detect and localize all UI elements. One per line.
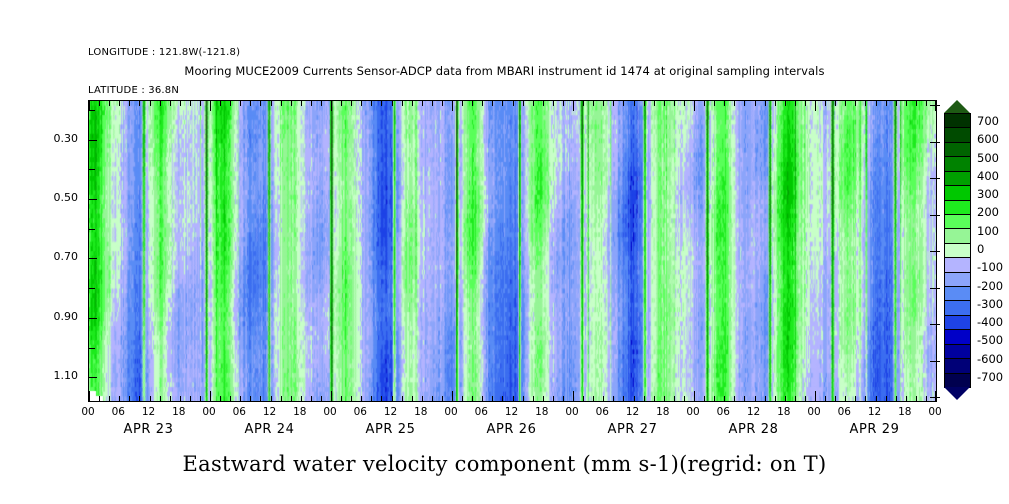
axis-tick xyxy=(351,101,352,106)
axis-tick xyxy=(250,396,251,401)
axis-tick xyxy=(170,396,171,401)
axis-tick xyxy=(452,101,453,111)
axis-tick xyxy=(855,101,856,106)
axis-tick xyxy=(593,396,594,401)
hour-tick-label: 00 xyxy=(560,406,584,418)
axis-tick xyxy=(412,396,413,401)
axis-tick xyxy=(129,396,130,401)
axis-tick xyxy=(119,396,120,401)
hour-tick-label: 06 xyxy=(106,406,130,418)
hour-tick-label: 18 xyxy=(651,406,675,418)
axis-tick xyxy=(845,101,846,106)
axis-tick xyxy=(513,101,514,106)
axis-tick xyxy=(734,396,735,401)
axis-tick xyxy=(210,101,211,111)
hour-tick-label: 12 xyxy=(379,406,403,418)
axis-tick xyxy=(654,101,655,106)
axis-tick xyxy=(422,396,423,401)
longitude-line: LONGITUDE : 121.8W(-121.8) xyxy=(88,47,240,60)
axis-tick xyxy=(704,101,705,106)
colorbar-band xyxy=(944,127,971,142)
axis-tick xyxy=(210,391,211,401)
axis-tick xyxy=(150,396,151,401)
colorbar-band xyxy=(944,171,971,186)
axis-tick xyxy=(381,396,382,401)
y-tick-label: 1.10 xyxy=(32,369,78,382)
colorbar-tick xyxy=(930,288,940,289)
axis-tick xyxy=(855,396,856,401)
y-major-tick xyxy=(89,377,97,378)
axis-tick xyxy=(139,396,140,401)
colorbar-tick-label: 500 xyxy=(977,151,999,165)
hour-tick-label: 12 xyxy=(137,406,161,418)
axis-tick xyxy=(785,101,786,106)
axis-tick xyxy=(190,101,191,106)
axis-tick xyxy=(240,101,241,106)
colorbar-tick xyxy=(930,142,940,143)
axis-tick xyxy=(492,396,493,401)
axis-tick xyxy=(371,396,372,401)
y-minor-tick xyxy=(89,348,95,349)
axis-tick xyxy=(543,396,544,401)
axis-tick xyxy=(341,101,342,106)
axis-tick xyxy=(613,101,614,106)
y-minor-tick xyxy=(89,229,95,230)
axis-tick xyxy=(482,396,483,401)
axis-tick xyxy=(704,396,705,401)
axis-tick xyxy=(724,396,725,401)
colorbar-tick-label: 300 xyxy=(977,187,999,201)
axis-tick xyxy=(835,101,836,106)
axis-tick xyxy=(281,396,282,401)
y-major-tick xyxy=(89,140,97,141)
axis-tick xyxy=(89,391,90,401)
axis-tick xyxy=(563,101,564,106)
colorbar-tick-label: 400 xyxy=(977,169,999,183)
y-tick-label: 0.50 xyxy=(32,191,78,204)
axis-tick xyxy=(744,396,745,401)
colorbar-band xyxy=(944,300,971,315)
axis-tick xyxy=(906,101,907,106)
day-label: APR 28 xyxy=(694,422,814,437)
colorbar-tick-label: -200 xyxy=(977,279,1003,293)
hour-tick-label: 12 xyxy=(742,406,766,418)
axis-tick xyxy=(634,101,635,106)
colorbar-band xyxy=(944,243,971,258)
axis-tick xyxy=(361,396,362,401)
axis-tick xyxy=(301,396,302,401)
axis-tick xyxy=(644,396,645,401)
hour-tick-label: 06 xyxy=(832,406,856,418)
hour-tick-label: 18 xyxy=(893,406,917,418)
axis-tick xyxy=(381,101,382,106)
axis-tick xyxy=(311,396,312,401)
axis-tick xyxy=(442,396,443,401)
axis-tick xyxy=(109,101,110,106)
colorbar-tick xyxy=(930,215,940,216)
axis-tick xyxy=(271,101,272,106)
axis-tick xyxy=(402,396,403,401)
hour-tick-label: 00 xyxy=(439,406,463,418)
velocity-heatmap-canvas xyxy=(89,101,936,401)
axis-tick xyxy=(180,396,181,401)
day-label: APR 29 xyxy=(815,422,935,437)
hour-tick-label: 00 xyxy=(923,406,947,418)
axis-tick xyxy=(321,101,322,106)
axis-tick xyxy=(432,101,433,106)
axis-tick xyxy=(240,396,241,401)
axis-tick xyxy=(513,396,514,401)
axis-tick xyxy=(694,101,695,111)
hour-tick-label: 00 xyxy=(802,406,826,418)
axis-tick xyxy=(402,101,403,106)
axis-tick xyxy=(492,101,493,106)
axis-tick xyxy=(119,101,120,106)
axis-tick xyxy=(674,396,675,401)
colorbar-tick-label: 700 xyxy=(977,114,999,128)
axis-tick xyxy=(926,396,927,401)
axis-tick xyxy=(301,101,302,106)
axis-tick xyxy=(734,101,735,106)
axis-tick xyxy=(573,101,574,111)
colorbar-band xyxy=(944,373,971,388)
y-minor-tick xyxy=(89,169,95,170)
axis-tick xyxy=(220,101,221,106)
hour-tick-label: 18 xyxy=(772,406,796,418)
axis-tick xyxy=(603,396,604,401)
axis-tick xyxy=(644,101,645,106)
axis-tick xyxy=(755,396,756,401)
axis-tick xyxy=(563,396,564,401)
y-major-tick xyxy=(89,318,97,319)
day-label: APR 26 xyxy=(452,422,572,437)
colorbar-band xyxy=(944,214,971,229)
colorbar-band xyxy=(944,286,971,301)
axis-tick xyxy=(815,391,816,401)
axis-tick xyxy=(271,396,272,401)
axis-tick xyxy=(634,396,635,401)
colorbar-tick-label: -500 xyxy=(977,333,1003,347)
colorbar-tick xyxy=(930,178,940,179)
axis-tick xyxy=(220,396,221,401)
day-label: APR 23 xyxy=(89,422,209,437)
hour-tick-label: 00 xyxy=(318,406,342,418)
colorbar-band xyxy=(944,228,971,243)
y-tick-label: 0.30 xyxy=(32,132,78,145)
hour-tick-label: 00 xyxy=(76,406,100,418)
axis-tick xyxy=(99,101,100,106)
colorbar-high-arrow xyxy=(944,100,970,113)
colorbar-band xyxy=(944,113,971,128)
axis-tick xyxy=(845,396,846,401)
axis-tick xyxy=(442,101,443,106)
axis-tick xyxy=(935,391,936,401)
axis-tick xyxy=(331,101,332,111)
axis-tick xyxy=(533,101,534,106)
axis-tick xyxy=(150,101,151,106)
axis-tick xyxy=(744,101,745,106)
axis-tick xyxy=(160,101,161,106)
hour-tick-label: 06 xyxy=(348,406,372,418)
axis-tick xyxy=(603,101,604,106)
axis-tick xyxy=(351,396,352,401)
axis-tick xyxy=(795,396,796,401)
axis-tick xyxy=(230,101,231,106)
axis-tick xyxy=(765,101,766,106)
colorbar-tick xyxy=(930,361,940,362)
axis-tick xyxy=(99,396,100,401)
axis-tick xyxy=(613,396,614,401)
axis-tick xyxy=(200,396,201,401)
hour-tick-label: 06 xyxy=(469,406,493,418)
y-minor-tick xyxy=(89,110,95,111)
axis-tick xyxy=(482,101,483,106)
axis-tick xyxy=(462,396,463,401)
y-major-tick xyxy=(89,199,97,200)
axis-tick xyxy=(523,101,524,106)
hour-tick-label: 00 xyxy=(681,406,705,418)
y-tick-label: 0.90 xyxy=(32,310,78,323)
axis-tick xyxy=(502,396,503,401)
axis-tick xyxy=(331,391,332,401)
hour-tick-label: 06 xyxy=(227,406,251,418)
axis-tick xyxy=(129,101,130,106)
hour-tick-label: 12 xyxy=(863,406,887,418)
colorbar-tick-label: 200 xyxy=(977,205,999,219)
axis-tick xyxy=(291,396,292,401)
day-label: APR 25 xyxy=(331,422,451,437)
colorbar-tick-label: -700 xyxy=(977,370,1003,384)
axis-tick xyxy=(462,101,463,106)
axis-tick xyxy=(190,396,191,401)
axis-tick xyxy=(593,101,594,106)
y-minor-tick xyxy=(89,288,95,289)
axis-tick xyxy=(755,101,756,106)
colorbar-tick-label: -600 xyxy=(977,352,1003,366)
axis-tick xyxy=(432,396,433,401)
axis-tick xyxy=(896,101,897,106)
axis-tick xyxy=(109,396,110,401)
y-major-tick xyxy=(89,258,97,259)
axis-tick xyxy=(865,396,866,401)
axis-tick xyxy=(583,396,584,401)
axis-tick xyxy=(674,101,675,106)
axis-tick xyxy=(926,101,927,106)
axis-tick xyxy=(865,101,866,106)
axis-tick xyxy=(533,396,534,401)
axis-tick xyxy=(886,101,887,106)
axis-tick xyxy=(623,101,624,106)
y-tick-label: 0.70 xyxy=(32,250,78,263)
axis-tick xyxy=(281,101,282,106)
hour-tick-label: 18 xyxy=(167,406,191,418)
colorbar-band xyxy=(944,156,971,171)
axis-tick xyxy=(341,396,342,401)
axis-tick xyxy=(815,101,816,111)
axis-tick xyxy=(139,101,140,106)
axis-tick xyxy=(422,101,423,106)
colorbar-tick xyxy=(930,251,940,252)
day-label: APR 24 xyxy=(210,422,330,437)
axis-tick xyxy=(412,101,413,106)
axis-tick xyxy=(170,101,171,106)
axis-tick xyxy=(916,101,917,106)
colorbar-tick-label: -100 xyxy=(977,260,1003,274)
axis-tick xyxy=(805,396,806,401)
axis-tick xyxy=(765,396,766,401)
axis-tick xyxy=(291,101,292,106)
colorbar-band xyxy=(944,358,971,373)
colorbar xyxy=(944,113,971,387)
hour-tick-label: 00 xyxy=(197,406,221,418)
colorbar-band xyxy=(944,329,971,344)
axis-tick xyxy=(805,101,806,106)
axis-tick xyxy=(835,396,836,401)
axis-tick xyxy=(714,396,715,401)
colorbar-band xyxy=(944,142,971,157)
hour-tick-label: 12 xyxy=(258,406,282,418)
axis-tick xyxy=(664,396,665,401)
axis-tick xyxy=(260,396,261,401)
axis-tick xyxy=(311,101,312,106)
axis-tick xyxy=(523,396,524,401)
axis-tick xyxy=(694,391,695,401)
axis-tick xyxy=(724,101,725,106)
axis-tick xyxy=(200,101,201,106)
colorbar-tick-label: 100 xyxy=(977,224,999,238)
axis-tick xyxy=(684,101,685,106)
axis-tick xyxy=(573,391,574,401)
colorbar-band xyxy=(944,200,971,215)
axis-tick xyxy=(714,101,715,106)
colorbar-low-arrow xyxy=(944,387,970,400)
figure-title: Eastward water velocity component (mm s-… xyxy=(0,452,1009,476)
colorbar-tick-label: -300 xyxy=(977,297,1003,311)
axis-tick xyxy=(876,101,877,106)
axis-tick xyxy=(230,396,231,401)
colorbar-tick-label: 600 xyxy=(977,132,999,146)
colorbar-band xyxy=(944,272,971,287)
axis-tick xyxy=(775,101,776,106)
contour-plot-area xyxy=(88,100,937,402)
axis-tick xyxy=(664,101,665,106)
axis-tick xyxy=(935,101,936,111)
axis-tick xyxy=(392,396,393,401)
hour-tick-label: 18 xyxy=(409,406,433,418)
hour-tick-label: 18 xyxy=(530,406,554,418)
axis-tick xyxy=(896,396,897,401)
hour-tick-label: 12 xyxy=(621,406,645,418)
colorbar-tick xyxy=(930,397,940,398)
axis-tick xyxy=(180,101,181,106)
axis-tick xyxy=(795,101,796,106)
axis-tick xyxy=(825,101,826,106)
colorbar-tick xyxy=(930,324,940,325)
colorbar-band xyxy=(944,344,971,359)
axis-tick xyxy=(321,396,322,401)
colorbar-tick xyxy=(930,105,940,106)
axis-tick xyxy=(361,101,362,106)
colorbar-band xyxy=(944,257,971,272)
hour-tick-label: 06 xyxy=(590,406,614,418)
axis-tick xyxy=(553,396,554,401)
colorbar-band xyxy=(944,315,971,330)
axis-tick xyxy=(452,391,453,401)
axis-tick xyxy=(825,396,826,401)
axis-tick xyxy=(543,101,544,106)
axis-tick xyxy=(160,396,161,401)
hour-tick-label: 06 xyxy=(711,406,735,418)
axis-tick xyxy=(392,101,393,106)
axis-tick xyxy=(785,396,786,401)
day-label: APR 27 xyxy=(573,422,693,437)
latitude-line: LATITUDE : 36.8N xyxy=(88,85,240,98)
axis-tick xyxy=(906,396,907,401)
axis-tick xyxy=(916,396,917,401)
axis-tick xyxy=(876,396,877,401)
colorbar-band xyxy=(944,185,971,200)
axis-tick xyxy=(583,101,584,106)
axis-tick xyxy=(654,396,655,401)
colorbar-tick-label: 0 xyxy=(977,242,984,256)
axis-tick xyxy=(553,101,554,106)
axis-tick xyxy=(502,101,503,106)
axis-tick xyxy=(684,396,685,401)
axis-tick xyxy=(371,101,372,106)
axis-tick xyxy=(886,396,887,401)
plot-subtitle: Mooring MUCE2009 Currents Sensor-ADCP da… xyxy=(0,64,1009,78)
axis-tick xyxy=(472,396,473,401)
hour-tick-label: 12 xyxy=(500,406,524,418)
axis-tick xyxy=(623,396,624,401)
axis-tick xyxy=(260,101,261,106)
axis-tick xyxy=(472,101,473,106)
axis-tick xyxy=(775,396,776,401)
hour-tick-label: 18 xyxy=(288,406,312,418)
colorbar-tick-label: -400 xyxy=(977,315,1003,329)
axis-tick xyxy=(250,101,251,106)
